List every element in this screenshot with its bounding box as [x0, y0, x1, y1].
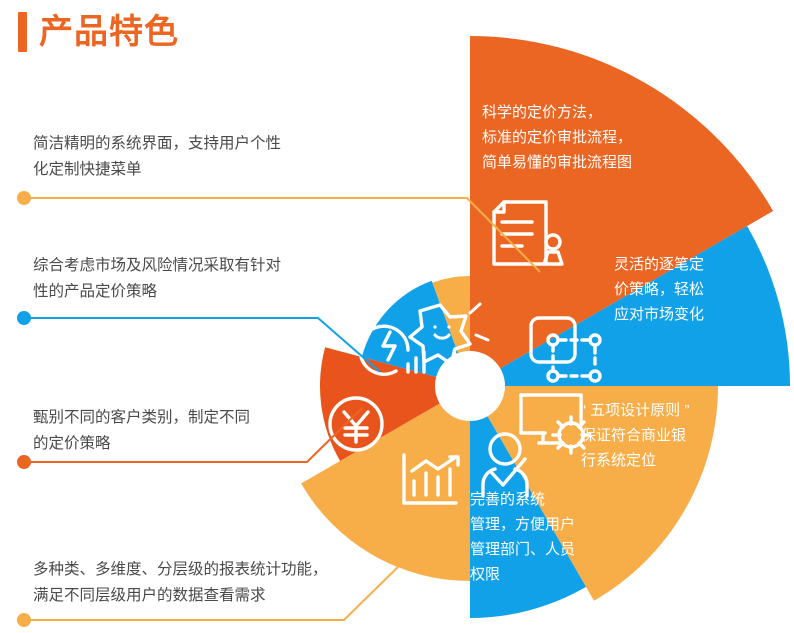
infographic-canvas: 产品特色	[0, 0, 794, 633]
segment-pricing-method-line-3: 简单易懂的审批流程图	[482, 150, 632, 175]
segment-system-management-line-1: 完善的系统	[470, 487, 575, 512]
segment-pricing-method-line-1: 科学的定价方法，	[482, 100, 632, 125]
callout-dot-reports	[17, 613, 31, 627]
segment-five-principles-text: “ 五项设计原则 ” 保证符合商业银 行系统定位	[581, 398, 689, 473]
segment-pricing-method-line-2: 标准的定价审批流程，	[482, 125, 632, 150]
callout-ui-line-1: 简洁精明的系统界面，支持用户个性	[33, 131, 281, 157]
segment-five-principles-line-3: 行系统定位	[581, 448, 689, 473]
segment-flexible-pricing-line-2: 价策略，轻松	[614, 277, 704, 302]
callout-customer-class-line-2: 的定价策略	[33, 431, 250, 457]
callout-reports: 多种类、多维度、分层级的报表统计功能， 满足不同层级用户的数据查看需求	[33, 557, 328, 609]
segment-system-management-line-3: 管理部门、人员	[470, 537, 575, 562]
callout-pricing-strategy-line-1: 综合考虑市场及风险情况采取有针对	[33, 253, 281, 279]
callout-pricing-strategy: 综合考虑市场及风险情况采取有针对 性的产品定价策略	[33, 253, 281, 305]
callout-ui: 简洁精明的系统界面，支持用户个性 化定制快捷菜单	[33, 131, 281, 183]
segment-flexible-pricing-line-3: 应对市场变化	[614, 302, 704, 327]
callout-pricing-strategy-line-2: 性的产品定价策略	[33, 279, 281, 305]
callout-reports-line-1: 多种类、多维度、分层级的报表统计功能，	[33, 557, 328, 583]
segment-system-management-line-2: 管理，方便用户	[470, 512, 575, 537]
segment-pricing-method-text: 科学的定价方法， 标准的定价审批流程， 简单易懂的审批流程图	[482, 100, 632, 175]
callout-dot-ui	[17, 191, 31, 205]
segment-system-management-text: 完善的系统 管理，方便用户 管理部门、人员 权限	[470, 487, 575, 587]
segment-flexible-pricing-line-1: 灵活的逐笔定	[614, 252, 704, 277]
callout-dot-pricing-strategy	[17, 311, 31, 325]
callout-reports-line-2: 满足不同层级用户的数据查看需求	[33, 583, 328, 609]
segment-five-principles-line-1: “ 五项设计原则 ”	[581, 398, 689, 423]
callout-customer-class: 甄别不同的客户类别，制定不同 的定价策略	[33, 405, 250, 457]
callout-ui-line-2: 化定制快捷菜单	[33, 157, 281, 183]
callout-dot-customer-class	[17, 455, 31, 469]
connector-callout-pricing-strategy	[17, 311, 380, 372]
segment-flexible-pricing-text: 灵活的逐笔定 价策略，轻松 应对市场变化	[614, 252, 704, 327]
segment-system-management-line-4: 权限	[470, 562, 575, 587]
callout-customer-class-line-1: 甄别不同的客户类别，制定不同	[33, 405, 250, 431]
segment-five-principles-line-2: 保证符合商业银	[581, 423, 689, 448]
